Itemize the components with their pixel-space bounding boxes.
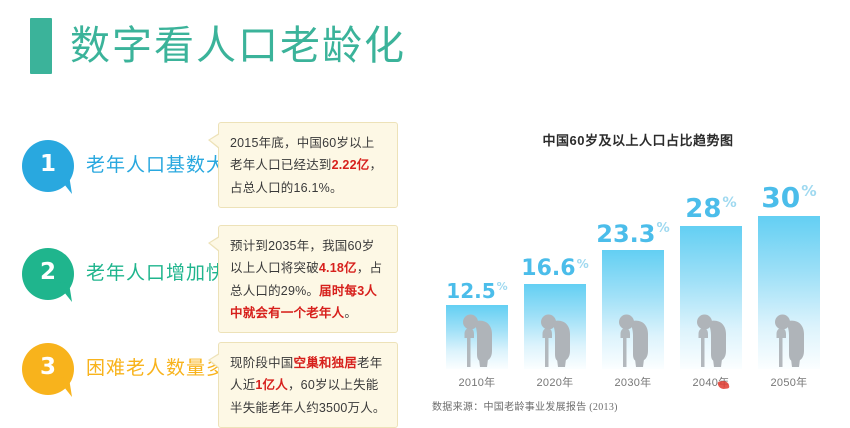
badge-number-1: 1 [22, 140, 74, 192]
x-axis-label: 2010年 [446, 374, 508, 390]
title-accent-bar [30, 18, 52, 74]
x-axis-label: 2040年 [680, 374, 742, 390]
infographic-page: 数字看人口老龄化 1 老年人口基数大 2015年底，中国60岁以上老年人口已经达… [0, 0, 850, 423]
bar-column: 16.6% [524, 164, 586, 369]
list-item-3: 3 困难老人数量多 [22, 343, 226, 395]
callout-tail-icon [210, 237, 220, 251]
list-item-1-label: 老年人口基数大 [86, 140, 226, 192]
callout-3-highlight-b: 1亿人 [255, 378, 288, 392]
bar-column: 23.3% [602, 164, 664, 369]
list-item-2: 2 老年人口增加快 [22, 248, 226, 300]
elderly-person-icon [767, 311, 811, 367]
callout-box-1: 2015年底，中国60岁以上老年人口已经达到2.22亿，占总人口的16.1%。 [218, 122, 398, 208]
list-item-2-label: 老年人口增加快 [86, 248, 226, 300]
badge-label: 3 [22, 343, 74, 395]
bar [446, 305, 508, 369]
badge-label: 2 [22, 248, 74, 300]
page-header: 数字看人口老龄化 [30, 18, 406, 74]
x-axis-label: 2050年 [758, 374, 820, 390]
elderly-person-icon [455, 311, 499, 367]
chart-title: 中国60岁及以上人口占比趋势图 [432, 130, 844, 149]
page-title: 数字看人口老龄化 [70, 26, 406, 66]
elderly-person-icon [689, 311, 733, 367]
percent-sign: % [577, 257, 589, 271]
callout-3-highlight-a: 空巢和独居 [294, 356, 358, 370]
bar [524, 284, 586, 369]
x-axis-label: 2020年 [524, 374, 586, 390]
bar-column: 28% [680, 164, 742, 369]
callout-1-highlight-a: 2.22亿 [332, 158, 370, 172]
percent-sign: % [497, 280, 508, 293]
elderly-person-icon [611, 311, 655, 367]
callout-3-text-a: 现阶段中国 [230, 356, 294, 370]
callout-box-2: 预计到2035年，我国60岁以上人口将突破4.18亿，占总人口的29%。届时每3… [218, 225, 398, 333]
percent-sign: % [722, 195, 736, 211]
bar [758, 216, 820, 369]
bar-value-label: 12.5% [446, 281, 507, 301]
badge-number-2: 2 [22, 248, 74, 300]
callout-tail-icon [210, 354, 220, 368]
percent-sign: % [657, 221, 670, 236]
bar [680, 226, 742, 369]
callout-2-highlight-a: 4.18亿 [319, 261, 357, 275]
bar-column: 12.5% [446, 164, 508, 369]
elderly-person-icon [533, 311, 577, 367]
bar-value-label: 30% [761, 184, 816, 212]
badge-number-3: 3 [22, 343, 74, 395]
bar-column: 30% [758, 164, 820, 369]
x-axis-label: 2030年 [602, 374, 664, 390]
list-item-3-label: 困难老人数量多 [86, 343, 226, 395]
bar-value-label: 23.3% [596, 222, 669, 246]
list-item-1: 1 老年人口基数大 [22, 140, 226, 192]
percent-sign: % [801, 182, 816, 200]
bar-value-label: 16.6% [521, 258, 588, 280]
bar [602, 250, 664, 369]
chart-plot-area: 12.5%16.6%23.3%28%30% [432, 164, 844, 369]
callout-2-text-c: 。 [344, 306, 357, 320]
chart-x-axis: 2010年2020年2030年2040年2050年 [432, 374, 844, 394]
population-trend-chart: 中国60岁及以上人口占比趋势图 12.5%16.6%23.3%28%30% 20… [432, 130, 844, 420]
bar-value-label: 28% [685, 196, 737, 222]
callout-tail-icon [210, 134, 220, 148]
badge-label: 1 [22, 140, 74, 192]
callout-box-3: 现阶段中国空巢和独居老年人近1亿人，60岁以上失能半失能老年人约3500万人。 [218, 342, 398, 428]
chart-source-note: 数据来源：中国老龄事业发展报告 (2013) [432, 398, 618, 413]
